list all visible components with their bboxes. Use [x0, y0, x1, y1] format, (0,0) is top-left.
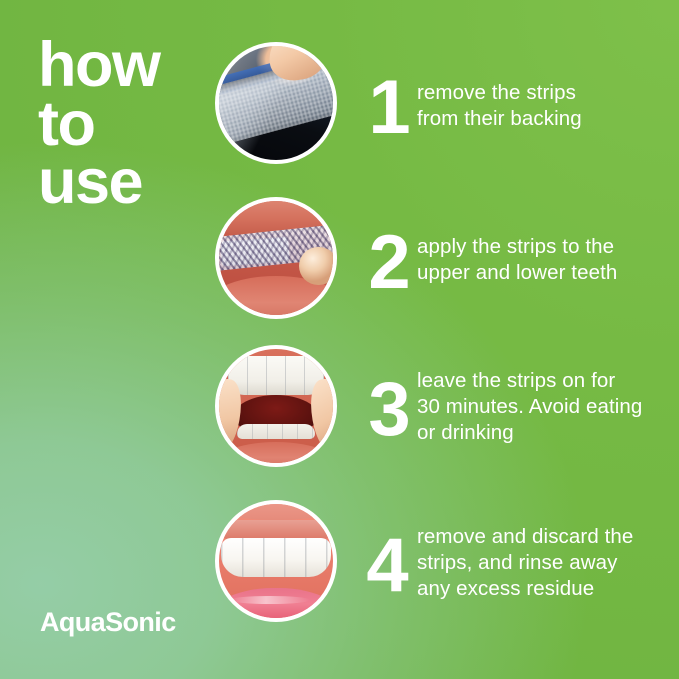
how-to-use-infographic: how to use 1 remove the strips from thei… [0, 0, 679, 679]
lower-lip-shape [215, 442, 337, 467]
step-4-caption-line-2: strips, and rinse away [417, 550, 679, 576]
upper-lip-shape [215, 500, 337, 520]
step-2-caption: apply the strips to the upper and lower … [417, 234, 679, 286]
step-3-number: 3 [360, 372, 416, 448]
step-2-caption-line-1: apply the strips to the [417, 234, 679, 260]
step-3-caption: leave the strips on for 30 minutes. Avoi… [417, 368, 679, 445]
step-4-caption-line-1: remove and discard the [417, 524, 679, 550]
step-4-caption: remove and discard the strips, and rinse… [417, 524, 679, 601]
step-4-caption-line-3: any excess residue [417, 576, 679, 602]
upper-teeth-shape [228, 356, 324, 395]
brand-logo: AquaSonic [40, 607, 176, 638]
lower-lip-shape [215, 588, 337, 622]
white-teeth-shape [221, 538, 330, 577]
step-2-caption-line-2: upper and lower teeth [417, 260, 679, 286]
step-2-number: 2 [360, 225, 416, 301]
step-4: 4 remove and discard the strips, and rin… [0, 0, 679, 122]
lower-teeth-shape [237, 424, 315, 439]
fingertip-shape [299, 247, 337, 286]
step-3-caption-line-3: or drinking [417, 420, 679, 446]
step-3-caption-line-2: 30 minutes. Avoid eating [417, 394, 679, 420]
step-3-caption-line-1: leave the strips on for [417, 368, 679, 394]
step-4-number: 4 [358, 528, 414, 604]
step-2-photo [215, 197, 337, 319]
step-3-photo [215, 345, 337, 467]
step-4-photo [215, 500, 337, 622]
page-title-line-3: use [38, 153, 159, 212]
